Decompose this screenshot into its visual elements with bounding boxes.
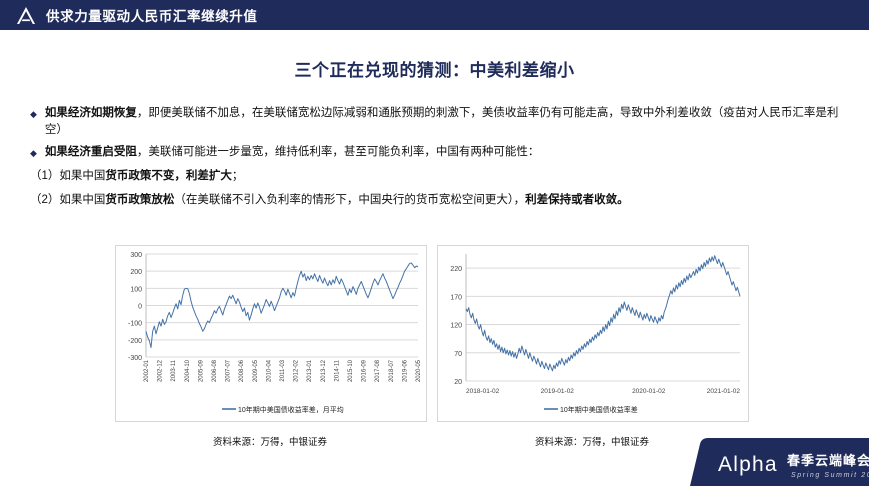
x-axis-tick-label: 2002-01 — [144, 359, 150, 382]
y-axis-tick-label: 300 — [130, 252, 142, 259]
numbered-bold-end: 利差保持或者收敛。 — [525, 194, 629, 206]
x-axis-tick-label: 2017-08 — [375, 359, 381, 382]
bullet-rest: ，即便美联储不加息，在美联储宽松边际减弱和通胀预期的刺激下，美债收益率仍有可能走… — [45, 107, 839, 136]
y-axis-tick-label: 220 — [450, 266, 462, 273]
x-axis-tick-label: 2003-11 — [171, 359, 177, 381]
bullet-text: 如果经济重启受阻，美联储可能进一步量宽，维持低利率，甚至可能负利率，中国有两种可… — [45, 144, 540, 161]
header-title: 供求力量驱动人民币汇率继续升值 — [46, 5, 258, 25]
x-axis-tick-label: 2004-10 — [185, 359, 191, 382]
x-axis-tick-label: 2010-04 — [266, 359, 272, 382]
x-axis-tick-label: 2019-06 — [402, 359, 408, 382]
x-axis-tick-label: 2006-08 — [212, 359, 218, 382]
x-axis-tick-label: 2019-01-02 — [541, 388, 575, 395]
y-axis-tick-label: 200 — [130, 269, 142, 276]
footer-logo-graphic: Alpha 春季云端峰会 Spring Summit 2021 — [674, 438, 869, 486]
content-body: ◆ 如果经济如期恢复，即便美联储不加息，在美联储宽松边际减弱和通胀预期的刺激下，… — [30, 105, 842, 209]
x-axis-tick-label: 2011-03 — [280, 359, 286, 381]
x-axis-tick-label: 2013-12 — [321, 359, 327, 382]
x-axis-tick-label: 2016-09 — [362, 359, 368, 382]
x-axis-tick-label: 2002-12 — [158, 359, 164, 382]
footer-en-text: Spring Summit 2021 — [791, 472, 869, 479]
bullet-rest: ，美联储可能进一步量宽，维持低利率，甚至可能负利率，中国有两种可能性： — [137, 146, 540, 158]
legend-label: 10年期中美国债收益率差，月平均 — [238, 405, 344, 414]
footer-brand-logo: Alpha 春季云端峰会 Spring Summit 2021 — [674, 438, 869, 486]
x-axis-tick-label: 2021-01-02 — [707, 388, 741, 395]
x-axis-tick-label: 2009-05 — [253, 359, 259, 382]
bullet-item: ◆ 如果经济重启受阻，美联储可能进一步量宽，维持低利率，甚至可能负利率，中国有两… — [30, 144, 842, 161]
chart-left: 3002001000-100-200-3002002-012002-122003… — [115, 245, 427, 422]
bullet-item: ◆ 如果经济如期恢复，即便美联储不加息，在美联储宽松边际减弱和通胀预期的刺激下，… — [30, 105, 842, 139]
triangle-a-logo-icon — [16, 6, 36, 25]
numbered-item-2: （2）如果中国货币政策放松（在美联储不引入负利率的情形下，中国央行的货币宽松空间… — [30, 192, 842, 209]
numbered-suffix: ； — [232, 170, 244, 182]
x-axis-tick-label: 2007-07 — [226, 359, 232, 382]
y-axis-tick-label: 100 — [130, 286, 142, 293]
slide-root: 供求力量驱动人民币汇率继续升值 三个正在兑现的猜测：中美利差缩小 ◆ 如果经济如… — [0, 0, 869, 486]
x-axis-tick-label: 2005-09 — [198, 359, 204, 382]
y-axis-tick-label: -100 — [128, 321, 142, 328]
x-axis-tick-label: 2018-07 — [389, 359, 395, 382]
chart-right-plot: 22017012070202018-01-022019-01-022020-01… — [438, 246, 746, 419]
x-axis-tick-label: 2018-01-02 — [466, 388, 500, 395]
numbered-prefix: （1）如果中国 — [30, 170, 105, 182]
x-axis-tick-label: 2013-01 — [307, 359, 313, 382]
y-axis-tick-label: -300 — [128, 355, 142, 362]
x-axis-tick-label: 2014-11 — [334, 359, 340, 381]
bullet-bold-lead: 如果经济重启受阻 — [45, 146, 137, 158]
numbered-item-1: （1）如果中国货币政策不变，利差扩大； — [30, 168, 842, 185]
x-axis-tick-label: 2020-01-02 — [632, 388, 666, 395]
y-axis-tick-label: 0 — [138, 304, 142, 311]
x-axis-tick-label: 2008-06 — [239, 359, 245, 382]
source-caption-left: 资料来源：万得，中银证券 — [115, 434, 425, 448]
page-title: 三个正在兑现的猜测：中美利差缩小 — [0, 56, 869, 81]
numbered-middle: （在美联储不引入负利率的情形下，中国央行的货币宽松空间更大）， — [174, 194, 525, 206]
numbered-bold: 货币政策不变，利差扩大 — [105, 170, 232, 182]
y-axis-tick-label: -200 — [128, 338, 142, 345]
chart-left-plot: 3002001000-100-200-3002002-012002-122003… — [116, 246, 424, 419]
y-axis-tick-label: 170 — [450, 294, 462, 301]
footer-brand-text: Alpha — [718, 453, 778, 476]
bullet-text: 如果经济如期恢复，即便美联储不加息，在美联储宽松边际减弱和通胀预期的刺激下，美债… — [45, 105, 842, 139]
numbered-bold: 货币政策放松 — [105, 194, 174, 206]
chart-right: 22017012070202018-01-022019-01-022020-01… — [437, 245, 749, 422]
x-axis-tick-label: 2020-05 — [416, 359, 422, 382]
legend-label: 10年期中美国债收益率差 — [560, 405, 638, 414]
y-axis-tick-label: 70 — [454, 351, 462, 358]
x-axis-tick-label: 2012-02 — [294, 359, 300, 382]
x-axis-tick-label: 2015-10 — [348, 359, 354, 382]
slide-header: 供求力量驱动人民币汇率继续升值 — [0, 0, 869, 30]
y-axis-tick-label: 20 — [454, 379, 462, 386]
y-axis-tick-label: 120 — [450, 323, 462, 330]
bullet-marker-icon: ◆ — [30, 106, 37, 122]
bullet-bold-lead: 如果经济如期恢复 — [45, 107, 137, 119]
footer-cn-text: 春季云端峰会 — [786, 453, 869, 468]
series-line — [466, 256, 740, 371]
bullet-marker-icon: ◆ — [30, 145, 37, 161]
numbered-prefix: （2）如果中国 — [30, 194, 105, 206]
